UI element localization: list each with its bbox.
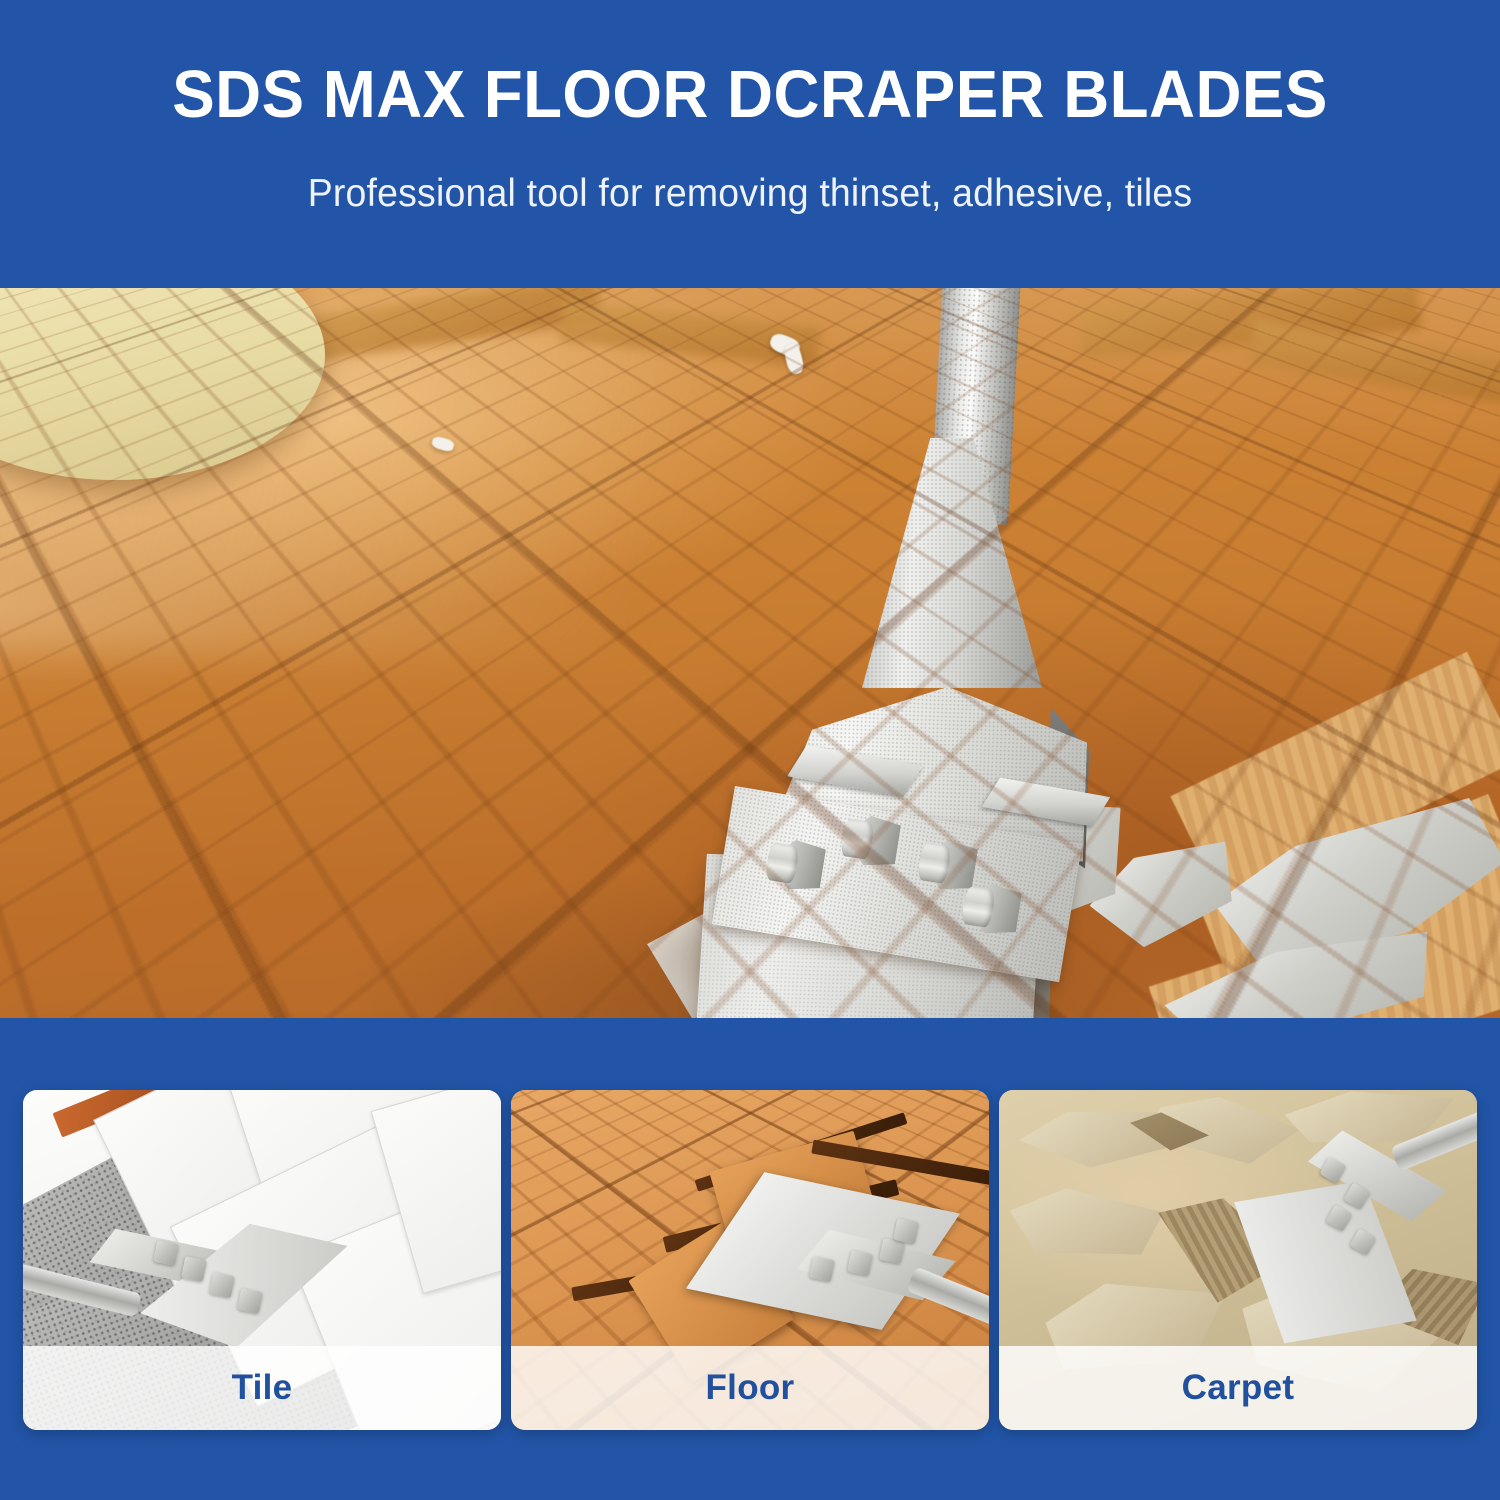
thumbnail-carpet[interactable]: Carpet: [999, 1090, 1477, 1430]
thumbnail-carpet-label: Carpet: [999, 1346, 1477, 1430]
shank-gusset: [862, 438, 1042, 688]
hex-bolt: [838, 812, 901, 872]
floor-scraper-tool: [0, 288, 1500, 1018]
hero-product-photo: Tips: TOOVEM only sell 2 pcs replacement…: [0, 288, 1500, 1018]
thumbnail-floor[interactable]: Floor: [511, 1090, 989, 1430]
thumbnail-tile-label: Tile: [23, 1346, 501, 1430]
page-title: SDS MAX FLOOR DCRAPER BLADES: [38, 56, 1463, 133]
hex-bolt: [959, 880, 1022, 940]
product-infographic: SDS MAX FLOOR DCRAPER BLADES Professiona…: [0, 0, 1500, 1500]
thumbnail-tile[interactable]: Tile: [23, 1090, 501, 1430]
header-banner: SDS MAX FLOOR DCRAPER BLADES Professiona…: [0, 0, 1500, 288]
thumbnail-floor-label: Floor: [511, 1346, 989, 1430]
page-subtitle: Professional tool for removing thinset, …: [30, 172, 1470, 216]
hex-bolt: [763, 836, 826, 896]
use-case-thumbnail-row: Tile Floor: [0, 1090, 1500, 1432]
